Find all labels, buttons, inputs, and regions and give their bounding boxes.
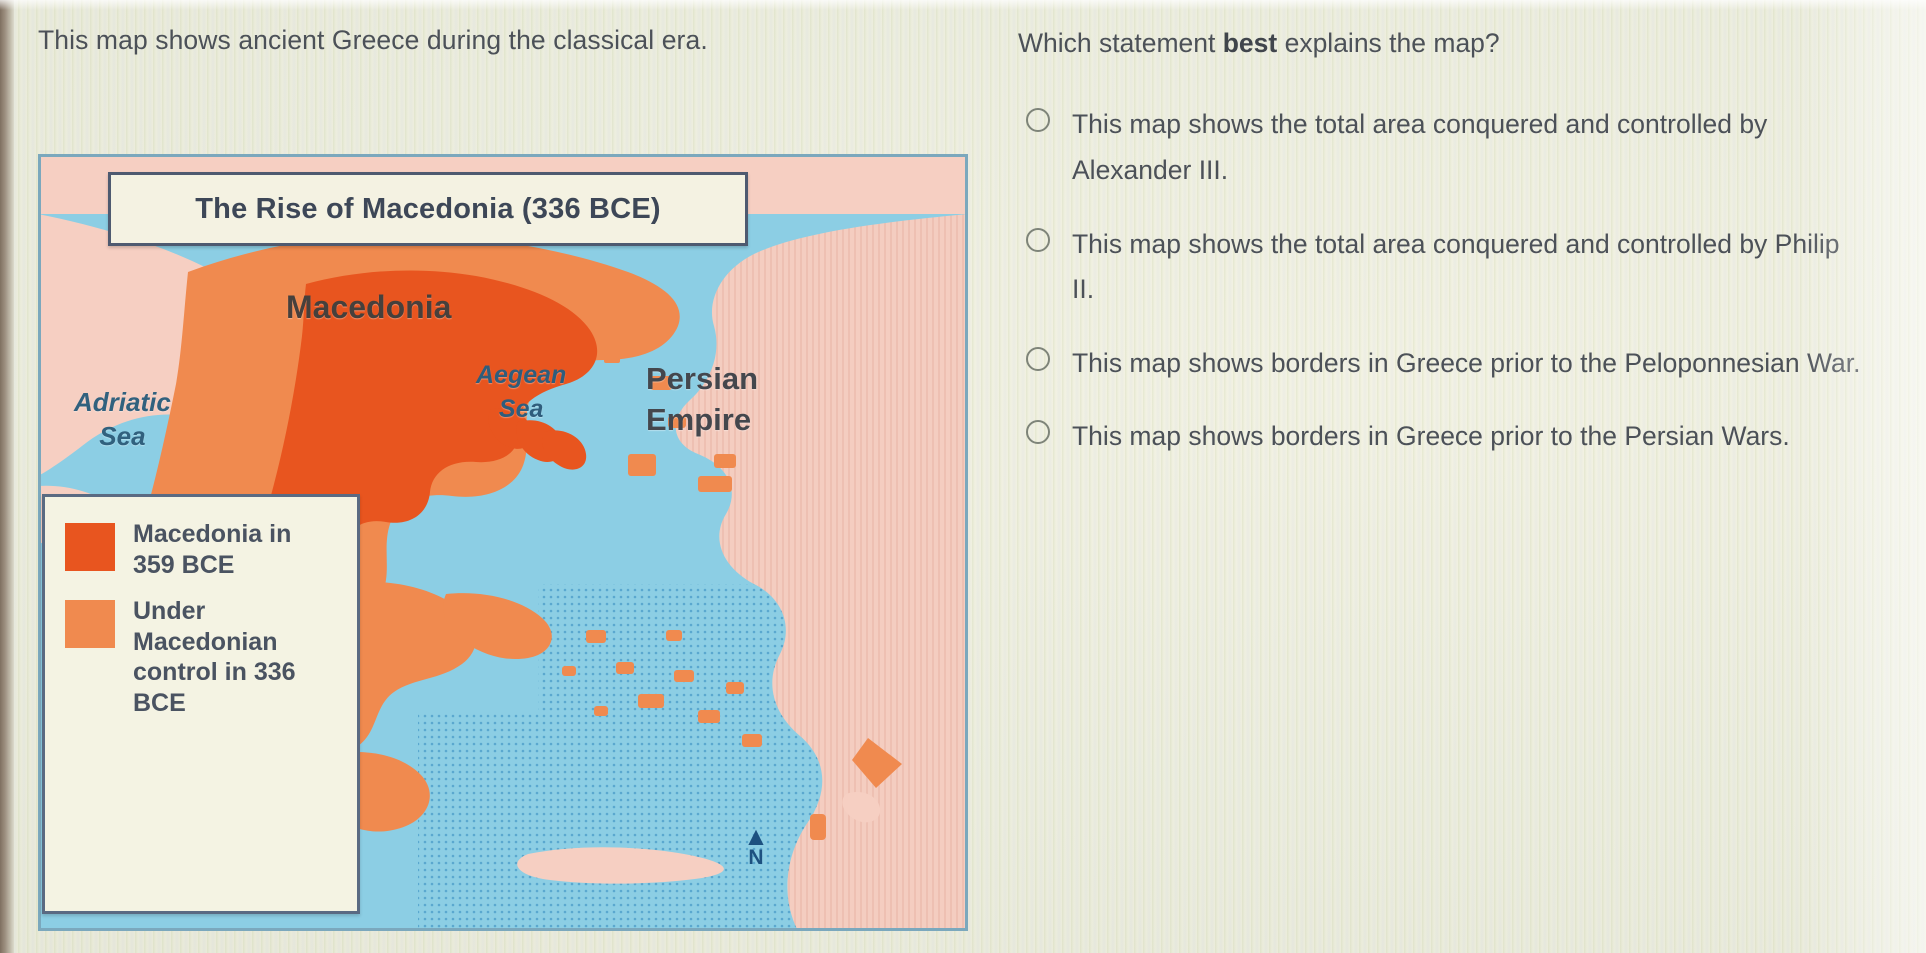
answer-option-3-label[interactable]: This map shows borders in Greece prior t… (1072, 341, 1861, 387)
question-stem-part-1: Which statement (1018, 28, 1223, 58)
question-panel: Which statement best explains the map? T… (1018, 22, 1878, 488)
answer-option-3[interactable]: This map shows borders in Greece prior t… (1018, 341, 1878, 387)
answer-option-1-label[interactable]: This map shows the total area conquered … (1072, 102, 1862, 193)
question-stem-emphasis: best (1223, 28, 1278, 58)
legend-item: Under Macedonian control in 336 BCE (65, 596, 339, 718)
radio-button-icon-option-1[interactable] (1026, 108, 1050, 132)
map-title-box: The Rise of Macedonia (336 BCE) (108, 172, 748, 246)
answer-option-1[interactable]: This map shows the total area conquered … (1018, 102, 1878, 193)
radio-button-icon-option-2[interactable] (1026, 228, 1050, 252)
answer-option-4[interactable]: This map shows borders in Greece prior t… (1018, 414, 1878, 460)
compass-north-indicator: ▲ N (738, 826, 774, 868)
north-arrow-icon: ▲ (738, 826, 774, 847)
legend-label-macedonia-359: Macedonia in 359 BCE (133, 519, 339, 580)
question-stem: Which statement best explains the map? (1018, 22, 1878, 64)
answer-option-2[interactable]: This map shows the total area conquered … (1018, 222, 1878, 313)
legend-swatch-macedonian-control-336 (65, 600, 115, 648)
screen-top-glare (0, 0, 1926, 10)
map-legend: Macedonia in 359 BCE Under Macedonian co… (42, 494, 360, 914)
radio-button-icon-option-3[interactable] (1026, 347, 1050, 371)
legend-label-macedonian-control-336: Under Macedonian control in 336 BCE (133, 596, 339, 718)
answer-option-4-label[interactable]: This map shows borders in Greece prior t… (1072, 414, 1790, 460)
question-prompt-and-map-panel: This map shows ancient Greece during the… (38, 18, 968, 938)
map-title-text: The Rise of Macedonia (336 BCE) (195, 193, 660, 226)
prompt-text: This map shows ancient Greece during the… (38, 18, 918, 64)
legend-swatch-macedonia-359 (65, 523, 115, 571)
map-figure: The Rise of Macedonia (336 BCE) Macedoni… (38, 154, 968, 931)
question-stem-part-2: explains the map? (1277, 28, 1499, 58)
answer-option-2-label[interactable]: This map shows the total area conquered … (1072, 222, 1862, 313)
answer-options-list: This map shows the total area conquered … (1018, 102, 1878, 459)
legend-item: Macedonia in 359 BCE (65, 519, 339, 580)
screen-left-edge-shadow (0, 0, 14, 953)
radio-button-icon-option-4[interactable] (1026, 420, 1050, 444)
